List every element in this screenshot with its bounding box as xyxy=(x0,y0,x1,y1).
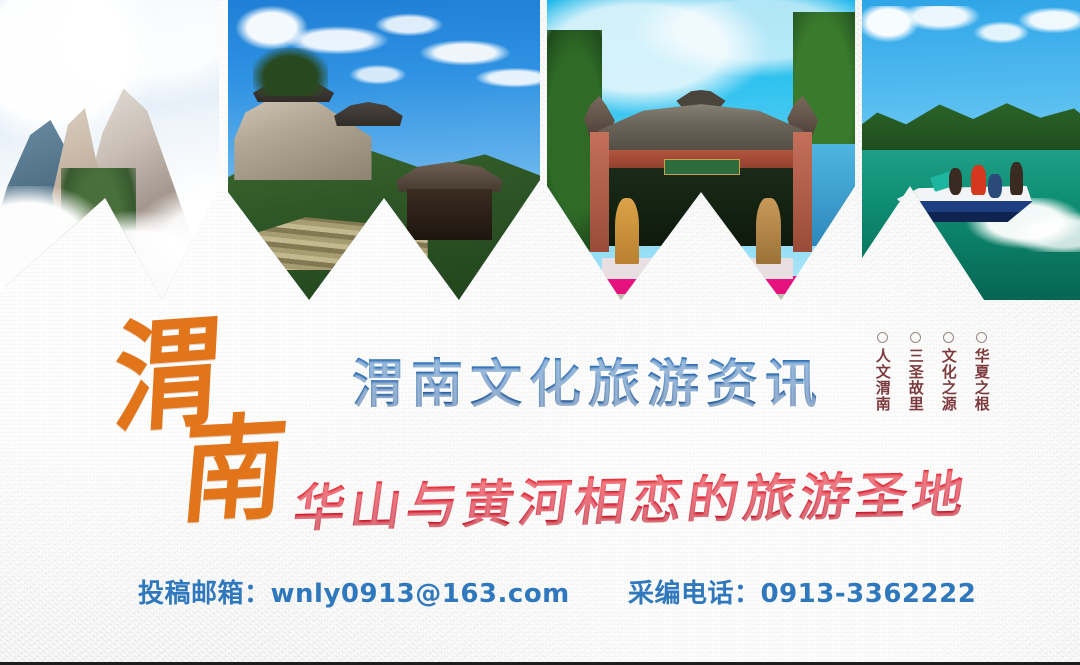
slogan-column: 文化之源 xyxy=(938,332,958,412)
brand-char-nan: 南 xyxy=(177,410,292,530)
ring-icon xyxy=(910,332,921,343)
ring-icon xyxy=(976,332,987,343)
pavilion-body xyxy=(407,189,492,240)
name-plaque xyxy=(664,159,740,175)
pavilion-roof xyxy=(396,162,502,192)
slogan-text: 华夏之根 xyxy=(972,348,989,412)
contact-row: 投稿邮箱：wnly0913@163.com 采编电话：0913-3362222 xyxy=(0,573,1080,619)
passenger-4 xyxy=(1010,162,1023,195)
cloud-sea xyxy=(0,186,219,300)
wooden-pavilion xyxy=(396,162,502,240)
slogan-text: 人文渭南 xyxy=(873,348,890,412)
passenger-3 xyxy=(988,174,1001,198)
pillar-right xyxy=(793,132,811,252)
slogan-column: 华夏之根 xyxy=(971,332,991,412)
slogan-column: 人文渭南 xyxy=(872,332,892,412)
stone-staircase xyxy=(658,240,744,294)
stone-stele-right xyxy=(756,198,781,264)
slogan-text: 文化之源 xyxy=(939,348,956,412)
photo-hilltop-ancient-temple xyxy=(228,0,540,300)
poster-banner: 渭 南 渭南文化旅游资讯 华山与黄河相恋的旅游圣地 华夏之根 文化之源 三圣故里… xyxy=(0,0,1080,665)
water-backdrop xyxy=(806,144,855,246)
stone-stele-left xyxy=(615,198,640,264)
contact-phone[interactable]: 采编电话：0913-3362222 xyxy=(628,573,976,610)
ring-icon xyxy=(877,332,888,343)
photo-mount-hua-clouds xyxy=(0,0,219,300)
photo-temple-hall-courtyard xyxy=(547,0,855,300)
passenger-2 xyxy=(971,165,986,195)
content-area: 渭 南 渭南文化旅游资讯 华山与黄河相恋的旅游圣地 华夏之根 文化之源 三圣故里… xyxy=(0,300,1080,665)
cloud-layer xyxy=(862,6,1080,108)
slogan-column: 三圣故里 xyxy=(905,332,925,412)
ring-icon xyxy=(943,332,954,343)
slogan-column-group: 华夏之根 文化之源 三圣故里 人文渭南 xyxy=(872,332,991,412)
courtyard-ground xyxy=(547,282,855,300)
brand-calligraphy-seal: 渭 南 xyxy=(110,322,320,537)
passenger-1 xyxy=(949,168,962,195)
slogan-text: 三圣故里 xyxy=(906,348,923,412)
photo-speedboat-river xyxy=(862,0,1080,300)
page-subtitle: 华山与黄河相恋的旅游圣地 xyxy=(290,453,974,541)
page-title: 渭南文化旅游资讯 xyxy=(352,342,824,417)
photo-band xyxy=(0,0,1080,300)
pillar-left xyxy=(590,132,608,252)
contact-email[interactable]: 投稿邮箱：wnly0913@163.com xyxy=(138,573,570,610)
hilltop-trees xyxy=(253,48,328,96)
